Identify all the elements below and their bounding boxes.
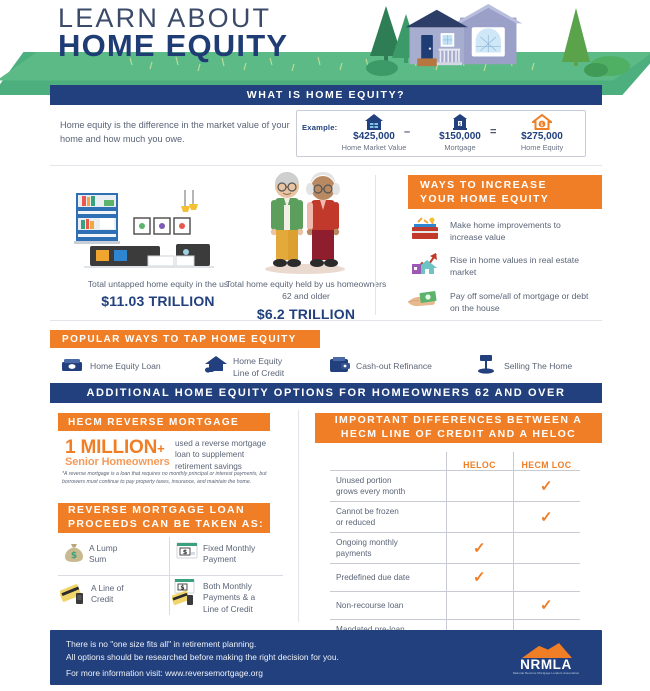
check-dollar-icon: $: [176, 541, 198, 561]
ways-item-1: Make home improvements to increase value: [450, 219, 590, 244]
divider-vertical-2: [298, 410, 299, 622]
check-card-icon: $: [172, 579, 198, 605]
ways-bar-line2: YOUR HOME EQUITY: [420, 192, 549, 206]
table-row: Unused portion grows every month ✓: [330, 470, 580, 501]
footer-line2: All options should be researched before …: [66, 651, 339, 664]
proceeds-grid-hline: [58, 575, 283, 576]
row-label-line2: payments: [336, 548, 442, 559]
footer-line1: There is no "one size fits all" in retir…: [66, 638, 339, 651]
check-icon: ✓: [473, 541, 486, 556]
table-row-label: Unused portion grows every month: [330, 471, 446, 501]
table-header-heloc: HELOC: [446, 460, 513, 470]
proceeds-label-line2: Credit: [91, 594, 124, 605]
check-icon: ✓: [540, 510, 553, 525]
table-header-hecm: HECM LOC: [513, 460, 580, 470]
proceeds-bar-line1: REVERSE MORTGAGE LOAN: [68, 504, 264, 518]
cell-hecm: ✓: [513, 479, 580, 494]
hero-banner: LEARN ABOUT HOME EQUITY: [0, 0, 650, 95]
proceeds-item-both: $ Both Monthly Payments & a Line of Cred…: [172, 579, 284, 615]
toolbox-icon: [410, 216, 440, 240]
row-label-line1: Predefined due date: [336, 572, 442, 583]
example-item-home-equity: $ $275,000 Home Equity: [500, 114, 584, 152]
hecm-big-number-text: 1 MILLION: [65, 437, 157, 458]
proceeds-label-line2: Payment: [203, 554, 255, 565]
popular-way-4: Selling The Home: [504, 361, 572, 373]
stat-value: $11.03 TRILLION: [78, 293, 238, 309]
proceeds-label-line2: Sum: [89, 554, 117, 565]
proceeds-item-label: A Lump Sum: [89, 543, 117, 566]
ways-bar-line1: WAYS TO INCREASE: [420, 178, 549, 192]
row-label-line2: grows every month: [336, 486, 442, 497]
check-icon: ✓: [540, 598, 553, 613]
divider-1: [50, 165, 602, 166]
comparison-table: HELOC HECM LOC Unused portion grows ever…: [330, 452, 580, 652]
check-icon: ✓: [473, 570, 486, 585]
proceeds-label-line1: A Line of: [91, 583, 124, 594]
ways-item-3: Pay off some/all of mortgage or debt on …: [450, 290, 598, 315]
example-caption: Home Equity: [500, 143, 584, 152]
hand-cash-icon: [408, 288, 440, 310]
row-label-line1: Ongoing monthly: [336, 537, 442, 548]
divider-2: [50, 320, 602, 321]
cell-hecm: ✓: [513, 598, 580, 613]
table-row: Predefined due date ✓: [330, 563, 580, 591]
money-bag-icon: $: [64, 541, 84, 563]
section-bar-popular-ways: POPULAR WAYS TO TAP HOME EQUITY: [50, 330, 320, 348]
svg-text:$: $: [183, 548, 188, 556]
cell-heloc: ✓: [446, 570, 513, 585]
proceeds-item-label: Both Monthly Payments & a Line of Credit: [203, 581, 255, 615]
ways-item-2: Rise in home values in real estate marke…: [450, 254, 590, 279]
for-sale-sign-icon: [477, 354, 495, 374]
proceeds-bar-line2: PROCEEDS CAN BE TAKEN AS:: [68, 518, 264, 532]
table-row-label: Non-recourse loan: [330, 596, 446, 615]
house-icon: [365, 114, 383, 130]
table-row-label: Predefined due date: [330, 568, 446, 587]
stat-caption: Total home equity held by us homeowners …: [225, 278, 387, 303]
example-caption: Home Market Value: [332, 143, 416, 152]
proceeds-label-line1: Both Monthly: [203, 581, 255, 592]
cash-stack-icon: [62, 358, 82, 372]
table-header-row: HELOC HECM LOC: [330, 452, 580, 470]
nrmla-logo: NRMLA National Reverse Mortgage Lenders …: [508, 640, 584, 676]
proceeds-item-line-of-credit: A Line of Credit: [60, 581, 168, 606]
nrmla-mountain-icon: [522, 642, 572, 658]
table-row-label: Ongoing monthly payments: [330, 533, 446, 563]
bank-icon: $: [452, 114, 468, 130]
proceeds-label-line3: Line of Credit: [203, 604, 255, 615]
svg-text:$: $: [540, 122, 543, 128]
comparison-bar-line1: IMPORTANT DIFFERENCES BETWEEN A: [315, 414, 602, 428]
proceeds-item-fixed-monthly: $ Fixed Monthly Payment: [176, 541, 284, 566]
section-bar-proceeds: REVERSE MORTGAGE LOAN PROCEEDS CAN BE TA…: [58, 503, 270, 533]
stat-caption: Total untapped home equity in the us: [78, 278, 238, 290]
stat-untapped-equity: Total untapped home equity in the us $11…: [78, 278, 238, 309]
hecm-big-subtitle: Senior Homeowners: [65, 456, 170, 468]
hecm-description: used a reverse mortgage loan to suppleme…: [175, 438, 280, 472]
hecm-plus: +: [157, 441, 164, 456]
home-equity-description: Home equity is the difference in the mar…: [60, 118, 290, 147]
example-amount: $275,000: [500, 131, 584, 142]
section-bar-additional-options: ADDITIONAL HOME EQUITY OPTIONS FOR HOMEO…: [50, 383, 602, 403]
nrmla-logo-text: NRMLA: [508, 657, 584, 672]
popular-way-2-line2: Line of Credit: [233, 368, 284, 380]
proceeds-item-label: Fixed Monthly Payment: [203, 543, 255, 566]
popular-way-3: Cash-out Refinance: [356, 361, 432, 373]
footer-panel: There is no "one size fits all" in retir…: [50, 630, 602, 685]
svg-text:$: $: [180, 584, 184, 591]
section-bar-what-is-home-equity: WHAT IS HOME EQUITY?: [50, 85, 602, 105]
row-label-line2: or reduced: [336, 517, 442, 528]
wallet-icon: [330, 357, 350, 373]
section-bar-hecm-reverse-mortgage: HECM REVERSE MORTGAGE: [58, 413, 270, 431]
footer-text-block: There is no "one size fits all" in retir…: [66, 638, 339, 663]
popular-way-1: Home Equity Loan: [90, 361, 161, 373]
section-bar-comparison: IMPORTANT DIFFERENCES BETWEEN A HECM LIN…: [315, 413, 602, 443]
row-label-line1: Unused portion: [336, 475, 442, 486]
example-operator-minus: –: [404, 126, 410, 138]
house-arrow-up-icon: [410, 251, 440, 275]
svg-text:$: $: [71, 551, 77, 561]
popular-way-2-line1: Home Equity: [233, 356, 284, 368]
popular-way-2: Home Equity Line of Credit: [233, 356, 284, 379]
footer-line3[interactable]: For more information visit: www.reversem…: [66, 668, 263, 678]
page-title-line2: HOME EQUITY: [58, 30, 288, 61]
row-label-line1: Non-recourse loan: [336, 600, 442, 611]
senior-couple-illustration: [255, 170, 355, 274]
cell-heloc: ✓: [446, 541, 513, 556]
proceeds-label-line2: Payments & a: [203, 592, 255, 603]
living-room-illustration: [68, 188, 248, 273]
table-header-blank: [330, 462, 446, 470]
infographic-page: LEARN ABOUT HOME EQUITY WHAT IS HOME EQU…: [0, 0, 650, 691]
proceeds-label-line1: Fixed Monthly: [203, 543, 255, 554]
check-icon: ✓: [540, 479, 553, 494]
row-label-line1: Cannot be frozen: [336, 506, 442, 517]
table-row: Ongoing monthly payments ✓: [330, 532, 580, 563]
table-row: Cannot be frozen or reduced ✓: [330, 501, 580, 532]
divider-vertical: [375, 175, 376, 315]
proceeds-grid: $ A Lump Sum $ Fixed Monthly Payment: [58, 535, 283, 617]
table-row: Non-recourse loan ✓: [330, 591, 580, 619]
example-operator-equals: =: [490, 126, 496, 138]
table-row-label: Cannot be frozen or reduced: [330, 502, 446, 532]
table-vline-2: [513, 452, 514, 642]
proceeds-item-label: A Line of Credit: [91, 583, 124, 606]
credit-card-icon: [60, 581, 86, 605]
house-illustration-icon: [398, 2, 528, 72]
stat-senior-equity: Total home equity held by us homeowners …: [225, 278, 387, 322]
example-caption: Mortgage: [418, 143, 502, 152]
nrmla-logo-subtext: National Reverse Mortgage Lenders Associ…: [508, 671, 584, 675]
hecm-footnote: *A reverse mortgage is a loan that requi…: [62, 470, 267, 486]
cell-hecm: ✓: [513, 510, 580, 525]
house-dollar-icon: $: [532, 114, 552, 130]
comparison-bar-line2: HECM LINE OF CREDIT AND A HELOC: [315, 428, 602, 442]
proceeds-label-line1: A Lump: [89, 543, 117, 554]
house-key-icon: [205, 356, 227, 374]
section-bar-ways-to-increase: WAYS TO INCREASE YOUR HOME EQUITY: [408, 175, 602, 209]
proceeds-item-lump-sum: $ A Lump Sum: [64, 541, 168, 566]
proceeds-grid-vline: [169, 537, 170, 615]
svg-text:$: $: [458, 122, 461, 128]
table-vline-1: [446, 452, 447, 642]
